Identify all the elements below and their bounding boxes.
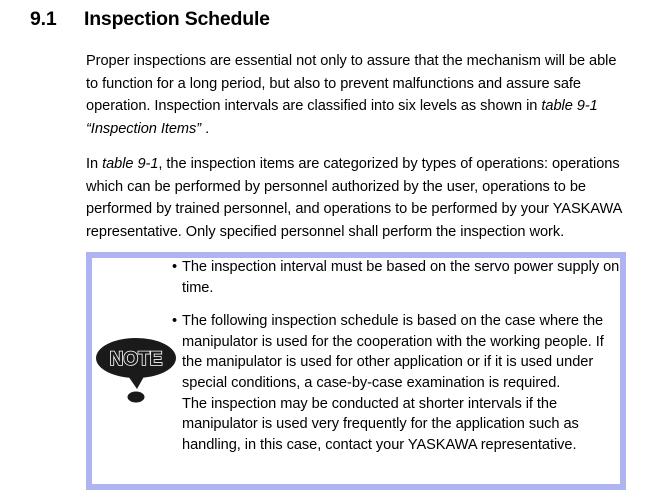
note-bullet-1-text: The inspection interval must be based on… — [182, 257, 620, 298]
bullet-glyph: • — [172, 257, 182, 298]
intro-paragraph: Proper inspections are essential not onl… — [86, 50, 626, 141]
note-line: The following inspection schedule is bas… — [182, 311, 620, 393]
note-bullet-1: • The inspection interval must be based … — [172, 257, 620, 298]
note-line: The inspection interval must be based on… — [182, 257, 620, 298]
categories-paragraph: In table 9-1, the inspection items are c… — [86, 153, 626, 244]
note-bullet-list: • The inspection interval must be based … — [172, 257, 620, 455]
note-bullet-2-text: The following inspection schedule is bas… — [182, 311, 620, 455]
section-number: 9.1 — [30, 8, 84, 31]
note-icon-label: NOTE — [110, 349, 163, 370]
bullet-glyph: • — [172, 311, 182, 455]
page-title: Inspection Schedule — [84, 8, 270, 31]
note-bullet-2: • The following inspection schedule is b… — [172, 311, 620, 455]
note-callout-box: NOTE • The inspection interval must be b… — [86, 252, 626, 490]
body-column: Proper inspections are essential not onl… — [86, 50, 626, 256]
note-speech-bubble-icon: NOTE — [93, 336, 179, 404]
page-heading: 9.1 Inspection Schedule — [30, 8, 270, 31]
note-line: The inspection may be conducted at short… — [182, 394, 620, 456]
